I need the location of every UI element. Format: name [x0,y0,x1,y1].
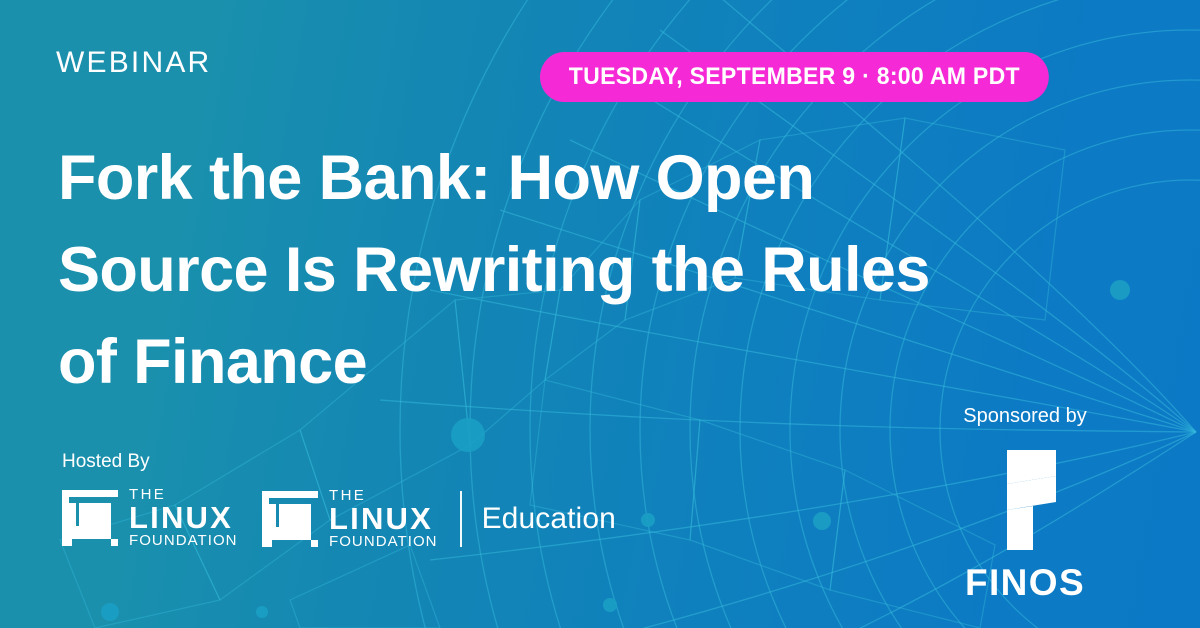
lf-linux-text: LINUX [329,504,438,533]
linux-foundation-logo: THE LINUX FOUNDATION [62,487,238,549]
sponsored-by-label: Sponsored by [963,406,1086,426]
linux-foundation-mark-icon [62,490,118,546]
hosted-by-block: Hosted By THE LINUX FOUNDATION [62,452,238,549]
page-title: Fork the Bank: How Open Source Is Rewrit… [58,133,1088,409]
education-label: Education [482,502,616,536]
webinar-banner: WEBINAR TUESDAY, SEPTEMBER 9 · 8:00 AM P… [0,0,1200,628]
linux-foundation-wordmark-secondary: THE LINUX FOUNDATION [329,488,438,550]
hosted-by-label: Hosted By [62,452,238,471]
linux-foundation-education-logo: THE LINUX FOUNDATION Education [262,488,616,550]
sponsor-block: Sponsored by FINOS [910,406,1140,601]
logo-divider [460,491,462,547]
eyebrow-label: WEBINAR [56,48,211,78]
finos-f-mark-icon [986,446,1064,554]
title-line-1: Fork the Bank: How Open [58,133,1088,225]
lf-foundation-text: FOUNDATION [329,533,438,550]
host-logo-row: THE LINUX FOUNDATION [62,487,238,549]
lf-foundation-text: FOUNDATION [129,532,238,549]
lf-linux-text: LINUX [129,503,238,532]
linux-foundation-mark-icon [262,491,318,547]
finos-wordmark: FINOS [965,564,1085,601]
title-line-3: of Finance [58,317,1088,409]
title-line-2: Source Is Rewriting the Rules [58,225,1088,317]
linux-foundation-logo-secondary: THE LINUX FOUNDATION [262,488,438,550]
date-time-badge: TUESDAY, SEPTEMBER 9 · 8:00 AM PDT [540,52,1049,102]
linux-foundation-wordmark: THE LINUX FOUNDATION [129,487,238,549]
